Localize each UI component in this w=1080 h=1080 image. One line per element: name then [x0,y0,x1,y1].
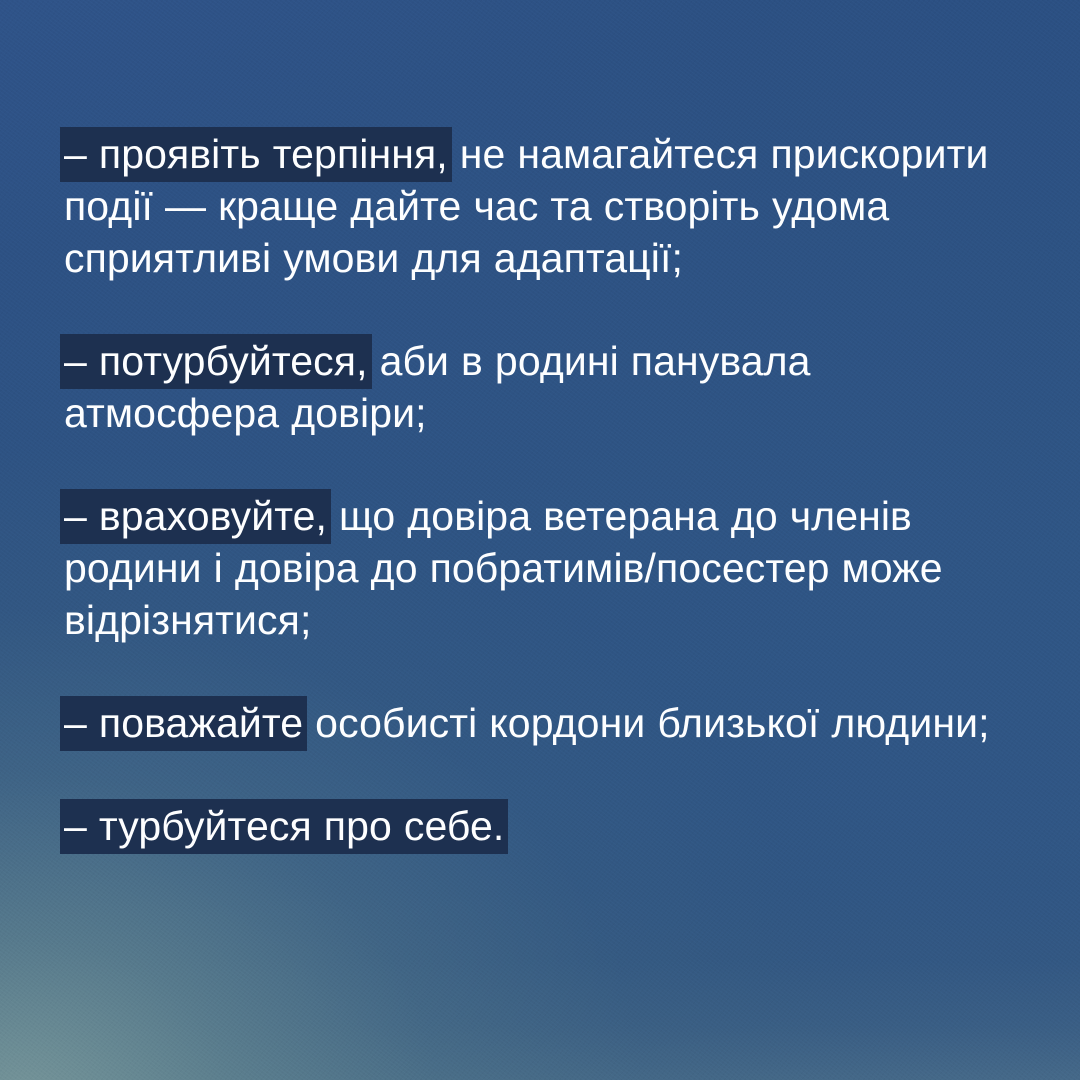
recommendation-list: – проявіть терпіння, не намагайтеся прис… [64,128,1016,852]
list-item-highlight: – турбуйтеся про себе. [64,803,504,849]
list-item-highlight: – потурбуйтеся, [64,338,368,384]
list-item-highlight: – проявіть терпіння, [64,131,448,177]
list-item: – проявіть терпіння, не намагайтеся прис… [64,128,1016,284]
list-item: – потурбуйтеся, аби в родині панувала ат… [64,335,1016,439]
list-item: – враховуйте, що довіра ветерана до член… [64,490,1016,646]
list-item: – турбуйтеся про себе. [64,800,1016,852]
recommendations-card: – проявіть терпіння, не намагайтеся прис… [0,0,1080,1080]
list-item-text: особисті кордони близької людини; [303,700,989,746]
list-item-highlight: – враховуйте, [64,493,327,539]
list-item-highlight: – поважайте [64,700,303,746]
list-item: – поважайте особисті кордони близької лю… [64,697,1016,749]
